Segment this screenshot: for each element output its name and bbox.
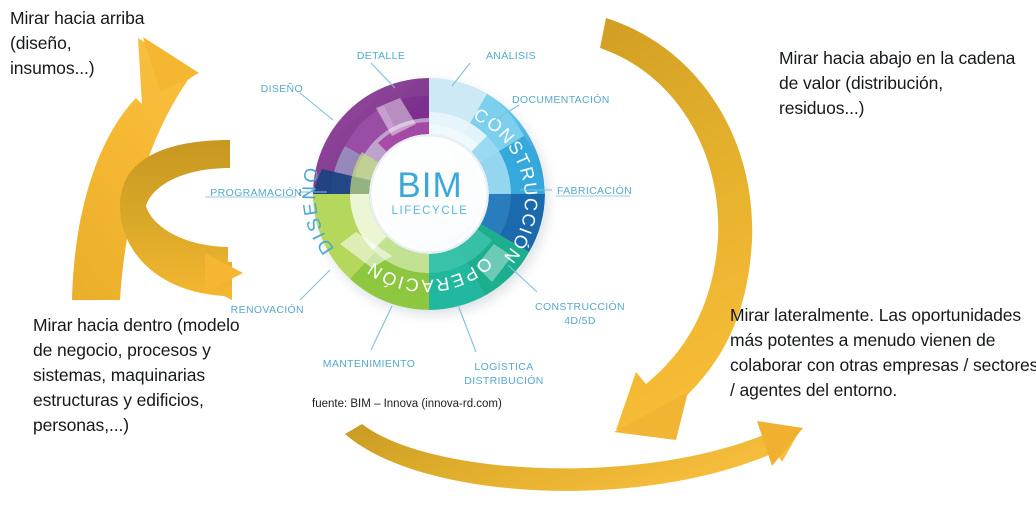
wheel-spoke-construccion45d: CONSTRUCCIÓN 4D/5D xyxy=(528,300,632,328)
wheel-spoke-detalle: DETALLE xyxy=(336,49,426,63)
callout-look-sideways: Mirar lateralmente. Las oportunidades má… xyxy=(730,303,1036,403)
wheel-spoke-analisis: ANÁLISIS xyxy=(466,49,556,63)
wheel-spoke-fabricacion: FABRICACIÓN xyxy=(557,184,647,198)
wheel-spoke-logistica: LOGÍSTICA DISTRIBUCIÓN xyxy=(455,360,553,388)
diagram-canvas: DISEÑO CONSTRUCCIÓN OPERACIÓN BIM LIFE xyxy=(0,0,1036,515)
wheel-spoke-programacion: PROGRAMACIÓN xyxy=(197,186,302,200)
callout-look-up: Mirar hacia arriba (diseño, insumos...) xyxy=(10,6,160,81)
wheel-spoke-documentacion: DOCUMENTACIÓN xyxy=(512,93,622,107)
callout-look-down: Mirar hacia abajo en la cadena de valor … xyxy=(779,46,1019,121)
source-note: fuente: BIM – Innova (innova-rd.com) xyxy=(312,398,502,410)
wheel-spoke-mantenimiento: MANTENIMIENTO xyxy=(310,357,428,371)
wheel-spoke-diseno_spoke: DISEÑO xyxy=(241,82,303,96)
wheel-body xyxy=(313,78,545,310)
callout-look-inside: Mirar hacia dentro (modelo de negocio, p… xyxy=(33,313,248,438)
